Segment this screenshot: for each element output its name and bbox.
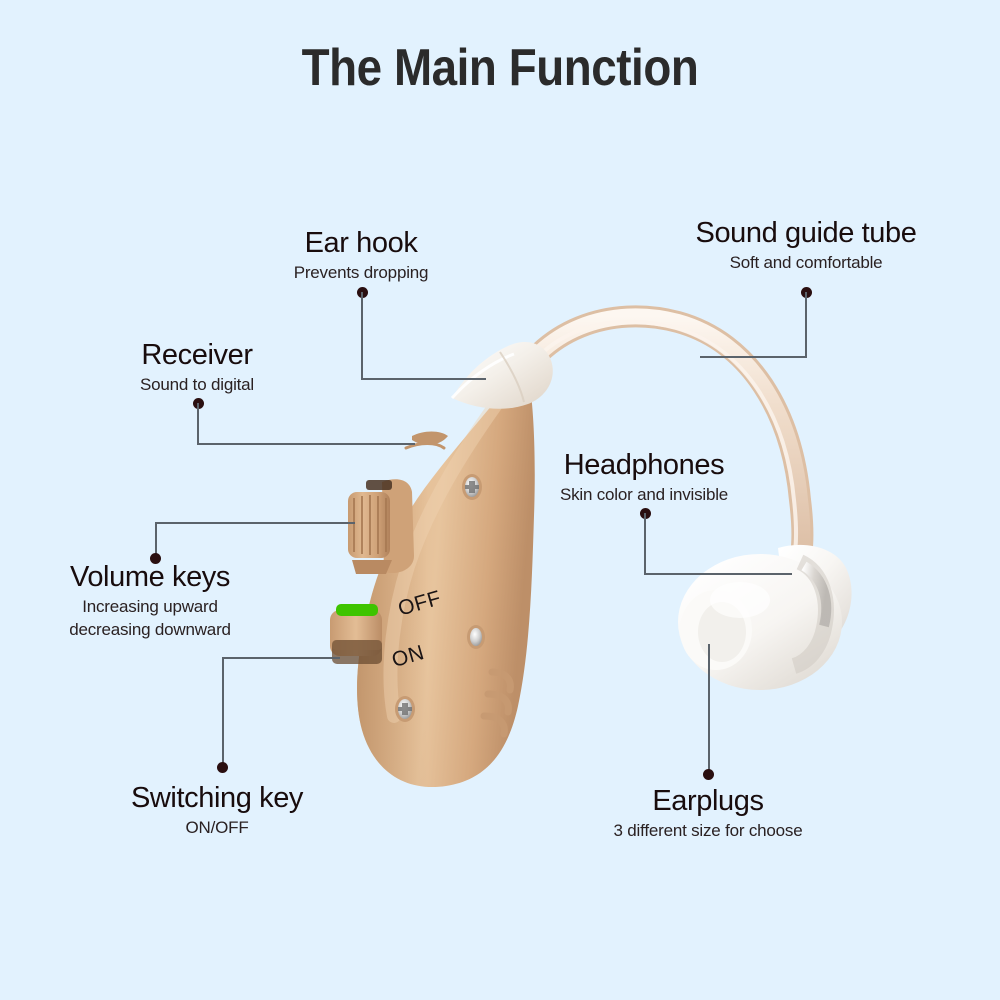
receiver-connector-v [197, 403, 199, 445]
callout-earplugs-head: Earplugs [583, 786, 833, 817]
callout-headphones-head: Headphones [524, 450, 764, 481]
callout-earplugs: Earplugs 3 different size for choose [583, 786, 833, 842]
callout-receiver: Receiver Sound to digital [72, 340, 322, 396]
callout-volume-keys-sub: Increasing upward [30, 596, 270, 617]
callout-ear-hook: Ear hook Prevents dropping [236, 228, 486, 284]
callout-switching-key-sub: ON/OFF [97, 817, 337, 838]
screw-upper [462, 474, 482, 500]
power-indicator-led [336, 604, 378, 616]
infographic-canvas: The Main Function [0, 0, 1000, 1000]
callout-ear-hook-head: Ear hook [236, 228, 486, 259]
device-body [357, 368, 535, 787]
earplug-assembly [678, 545, 852, 690]
callout-volume-keys-sub2: decreasing downward [30, 619, 270, 640]
switching-key-connector-v [222, 657, 224, 767]
callout-earplugs-sub: 3 different size for choose [583, 820, 833, 841]
volume-wheel [348, 492, 390, 558]
page-title: The Main Function [60, 38, 940, 98]
callout-headphones-sub: Skin color and invisible [524, 484, 764, 505]
volume-keys-connector-h [155, 522, 355, 524]
earplug-ring [794, 562, 826, 666]
switching-key-connector-h [222, 657, 340, 659]
earplugs-connector-v [708, 644, 710, 774]
callout-sound-guide-tube-sub: Soft and comfortable [656, 252, 956, 273]
callout-receiver-sub: Sound to digital [72, 374, 322, 395]
callout-receiver-head: Receiver [72, 340, 322, 371]
callout-headphones: Headphones Skin color and invisible [524, 450, 764, 506]
callout-volume-keys-head: Volume keys [30, 562, 270, 593]
headphones-connector-v [644, 513, 646, 575]
screw-lower [395, 696, 415, 722]
switch-label-off: OFF [396, 586, 444, 621]
switch-label-on: ON [389, 641, 427, 673]
ear-hook-shape [452, 342, 553, 409]
volume-wheel-housing [382, 479, 414, 573]
ear-hook-connector-v [361, 292, 363, 380]
headphones-connector-h [644, 573, 792, 575]
callout-switching-key: Switching key ON/OFF [97, 783, 337, 839]
switching-key-connector-dot [217, 762, 228, 773]
ear-hook-connector-h [361, 378, 486, 380]
receiver-connector-h [197, 443, 415, 445]
hearing-aid-illustration [0, 0, 1000, 1000]
battery-door-ridges [484, 672, 510, 734]
earplugs-connector-dot [703, 769, 714, 780]
callout-switching-key-head: Switching key [97, 783, 337, 814]
callout-ear-hook-sub: Prevents dropping [236, 262, 486, 283]
sound-guide-tube-connector-v [805, 292, 807, 358]
callout-sound-guide-tube: Sound guide tube Soft and comfortable [656, 218, 956, 274]
callout-volume-keys: Volume keys Increasing upward decreasing… [30, 562, 270, 640]
screw-mid-right [467, 625, 485, 649]
callout-sound-guide-tube-head: Sound guide tube [656, 218, 956, 249]
sound-guide-tube-connector-h [700, 356, 807, 358]
power-switch [330, 610, 382, 656]
receiver-slot [412, 432, 448, 445]
